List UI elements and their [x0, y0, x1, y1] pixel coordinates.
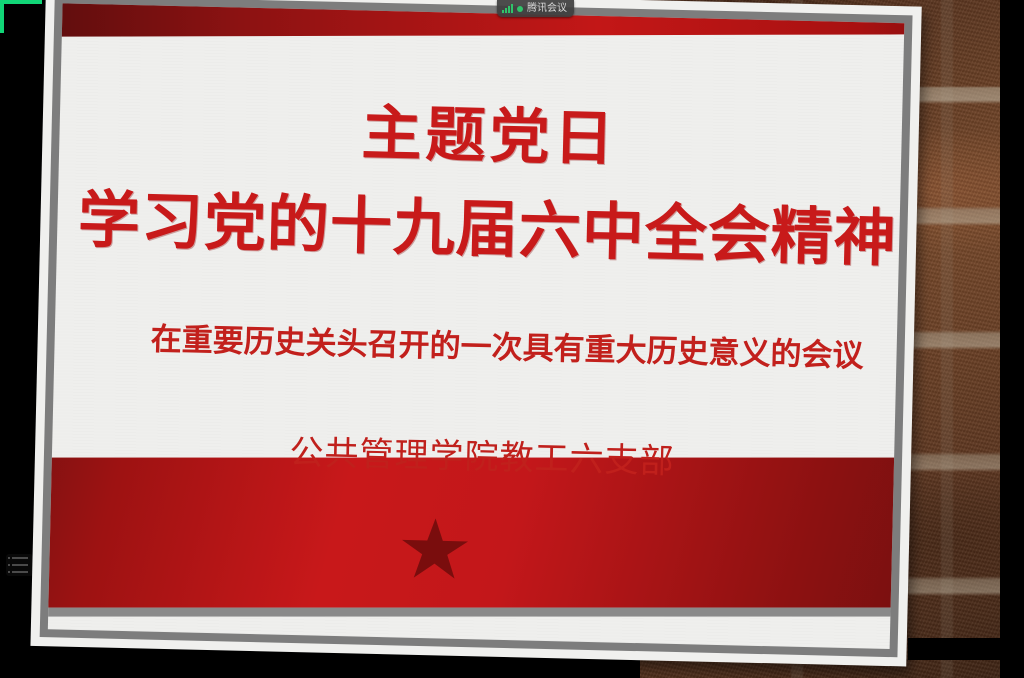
- bottom-right-black-block: [908, 638, 1024, 660]
- screen-share-corner-bracket-icon: [0, 0, 42, 33]
- slide-inner-frame: 主题党日 学习党的十九届六中全会精神 在重要历史关头召开的一次具有重大历史意义的…: [40, 0, 913, 657]
- list-row-3: [8, 571, 31, 573]
- tencent-meeting-badge[interactable]: 腾讯会议: [497, 0, 574, 17]
- slide-content-area: 主题党日 学习党的十九届六中全会精神 在重要历史关头召开的一次具有重大历史意义的…: [48, 3, 905, 649]
- list-row-1: [8, 557, 31, 559]
- slide-top-red-band: [48, 3, 905, 36]
- slide-outer-frame: 主题党日 学习党的十九届六中全会精神 在重要历史关头召开的一次具有重大历史意义的…: [30, 0, 921, 666]
- list-row-2: [8, 564, 31, 566]
- slide-description: 在重要历史关头召开的一次具有重大历史意义的会议: [150, 321, 871, 378]
- list-menu-icon[interactable]: [6, 554, 33, 576]
- slide-title-sub: 学习党的十九届六中全会精神: [57, 185, 905, 273]
- screen-share-view: 主题党日 学习党的十九届六中全会精神 在重要历史关头召开的一次具有重大历史意义的…: [0, 0, 1024, 678]
- signal-bars-icon: [502, 4, 513, 13]
- meeting-badge-label: 腾讯会议: [527, 4, 567, 14]
- slide-title-main: 主题党日: [59, 95, 904, 178]
- right-black-margin: [1000, 0, 1024, 678]
- green-status-dot-icon: [517, 6, 523, 12]
- presentation-slide: 主题党日 学习党的十九届六中全会精神 在重要历史关头召开的一次具有重大历史意义的…: [30, 0, 921, 666]
